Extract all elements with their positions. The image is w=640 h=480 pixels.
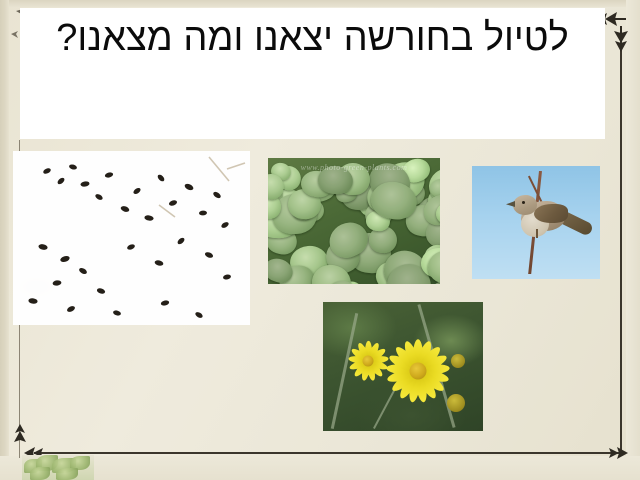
photo-ants-content (13, 151, 250, 325)
bird-scene (477, 171, 595, 274)
photo-bird-content (472, 166, 600, 279)
frame-edge-bottom (0, 456, 640, 480)
arrow-fletching-left-icon (12, 424, 28, 446)
photo-ants-on-sand[interactable] (13, 151, 250, 325)
slide-canvas: לטיול בחורשה יצאנו ומה מצאנו? (0, 0, 640, 480)
photo-flowers-content (323, 302, 483, 431)
bird-head (513, 195, 537, 215)
arrow-head-right-icon (606, 444, 628, 462)
plant-leaf-5 (30, 467, 50, 480)
photo-watermark: www.photo-green-plants.com (274, 162, 434, 173)
photo-leaves-content: www.photo-green-plants.com (268, 158, 440, 284)
title-textbox[interactable]: לטיול בחורשה יצאנו ומה מצאנו? (20, 8, 605, 139)
photo-sparrow-on-branch[interactable] (472, 166, 600, 279)
slide-title: לטיול בחורשה יצאנו ומה מצאנו? (20, 10, 605, 66)
photo-yellow-daisies[interactable] (323, 302, 483, 431)
bird-wing (534, 204, 568, 223)
frame-edge-left (0, 0, 9, 480)
photo-round-green-leaves[interactable]: www.photo-green-plants.com (268, 158, 440, 284)
bird-beak (506, 201, 515, 207)
flower-center (410, 363, 427, 380)
bird-leg (536, 229, 538, 238)
arrow-fletching-vertical-icon (612, 26, 630, 52)
plant-leaf-6 (56, 468, 78, 480)
flower-bud-2 (447, 394, 465, 412)
frame-edge-right (626, 0, 640, 480)
photo-plant-content (22, 455, 94, 480)
flower-bud-1 (451, 354, 465, 368)
arrow-rule-horizontal (34, 452, 620, 454)
frame-edge-top (0, 0, 640, 7)
bird-eye (522, 201, 525, 204)
ants-overlay (13, 151, 250, 325)
photo-plant-sliver[interactable] (22, 455, 94, 480)
arrow-rule-vertical (620, 36, 622, 454)
